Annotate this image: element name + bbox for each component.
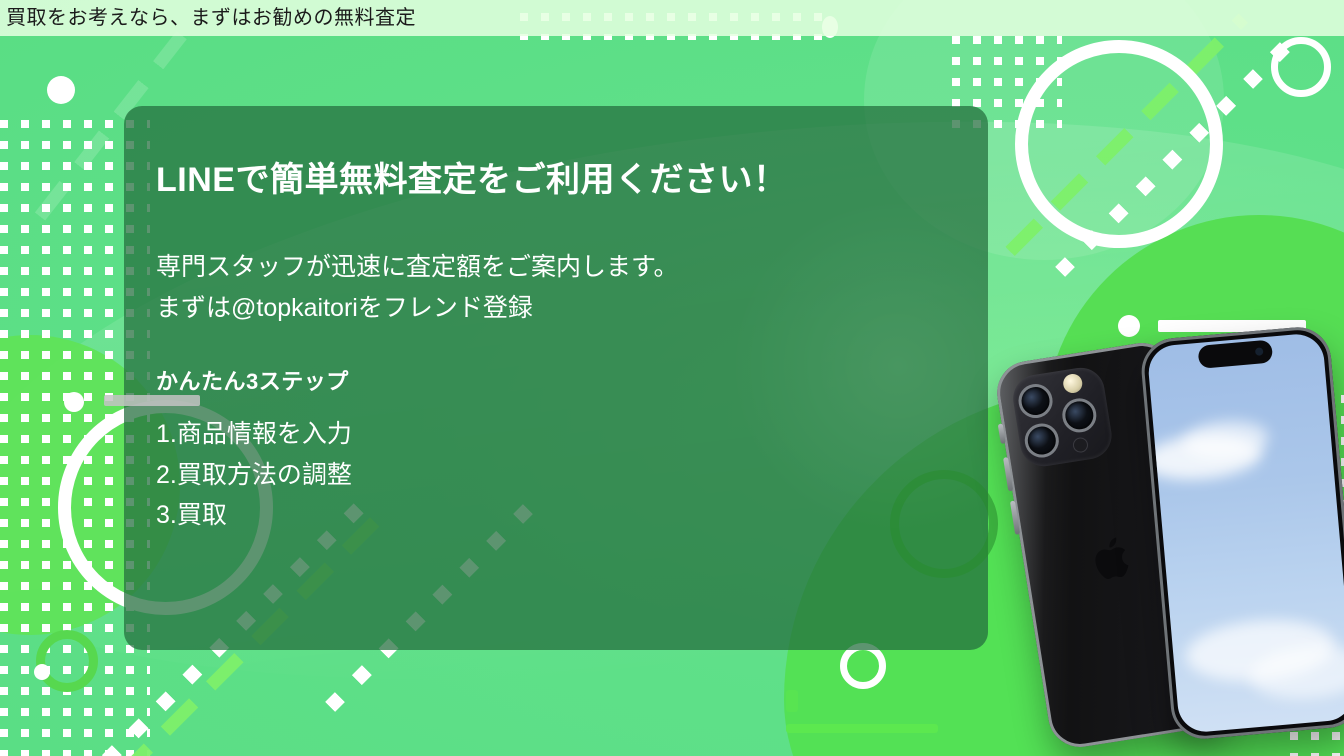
ring-green-bottom-left	[36, 630, 98, 692]
card-headline: LINEで簡単無料査定をご利用ください！	[156, 152, 988, 201]
apple-logo-icon	[1089, 532, 1138, 586]
card-lead: 専門スタッフが迅速に査定額をご案内します。 まずは@topkaitoriをフレン…	[156, 247, 988, 328]
card-lead-line1: 専門スタッフが迅速に査定額をご案内します。	[156, 247, 988, 288]
camera-lens	[1016, 382, 1055, 421]
lidar-sensor-icon	[1072, 436, 1089, 453]
header-band: 買取をお考えなら、まずはお勧めの無料査定	[0, 0, 1344, 36]
bar-green-bottom-left-stub	[786, 690, 798, 712]
ring-green-card-right	[890, 470, 998, 578]
dot-white-bottom-left	[34, 664, 50, 680]
camera-module	[1010, 364, 1115, 469]
camera-flash-icon	[1062, 373, 1084, 395]
bar-grey-steps-underline	[104, 395, 200, 406]
dot-white-left-mid	[64, 392, 84, 412]
bar-green-bottom-center	[786, 724, 938, 733]
steps-title: かんたん3ステップ	[156, 364, 988, 396]
camera-lens	[1022, 421, 1061, 460]
step-item: 2.買取方法の調整	[156, 455, 988, 496]
ring-white-large-top-right	[1015, 40, 1223, 248]
step-item: 1.商品情報を入力	[156, 414, 988, 455]
ring-white-small-top-right	[1271, 37, 1331, 97]
camera-lens	[1060, 396, 1099, 435]
dot-white-top-left	[47, 76, 75, 104]
steps-list: 1.商品情報を入力 2.買取方法の調整 3.買取	[156, 414, 988, 536]
iphone-front-mockup	[1139, 324, 1344, 741]
device-mockups	[1006, 328, 1344, 756]
page-title: 買取をお考えなら、まずはお勧めの無料査定	[0, 0, 416, 36]
banner-root: 買取をお考えなら、まずはお勧めの無料査定 LINEで簡単無料査定をご利用ください…	[0, 0, 1344, 756]
card-lead-line2: まずは@topkaitoriをフレンド登録	[156, 288, 988, 329]
promo-card: LINEで簡単無料査定をご利用ください！ 専門スタッフが迅速に査定額をご案内しま…	[124, 106, 988, 650]
step-item: 3.買取	[156, 495, 988, 536]
phone-screen	[1146, 332, 1344, 734]
